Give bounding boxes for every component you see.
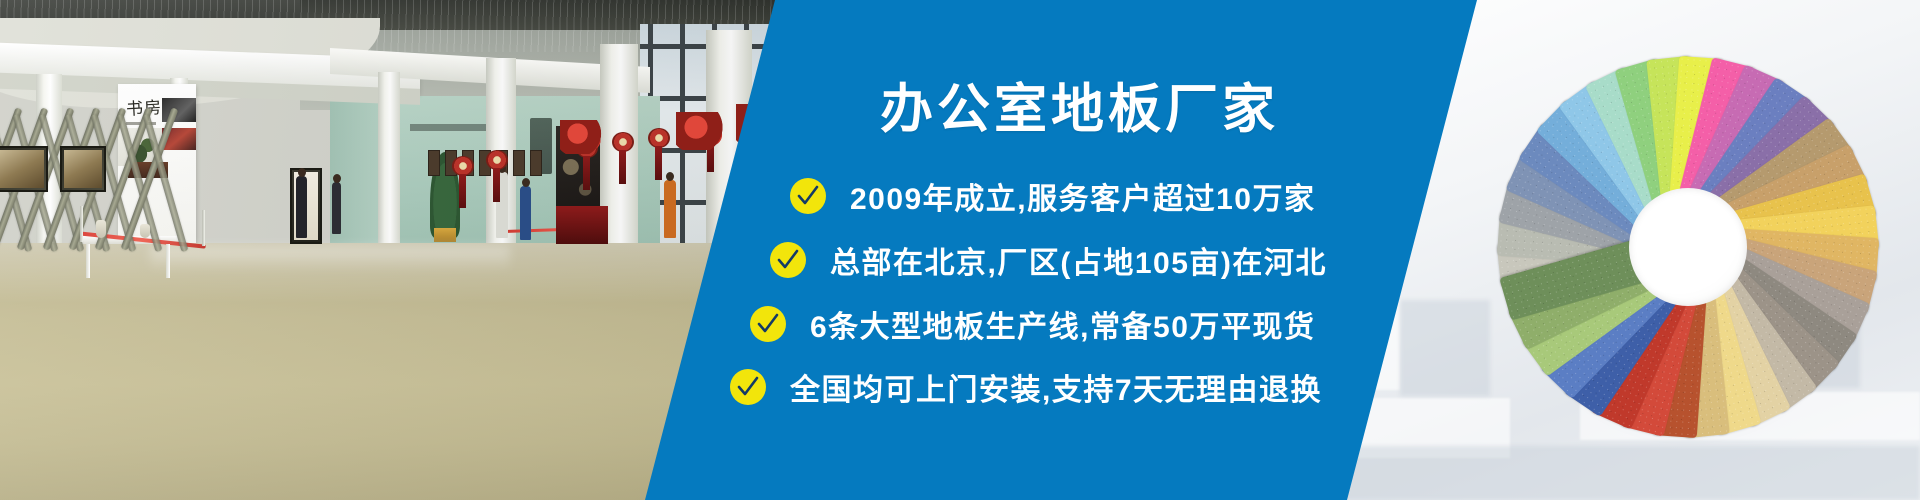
person (296, 176, 307, 238)
wall-artwork-canvas (64, 150, 102, 188)
check-circle-icon (770, 242, 806, 278)
person (520, 186, 531, 240)
page-title: 办公室地板厂家 (880, 78, 1279, 142)
check-circle-icon (730, 369, 766, 405)
feature-item-1: 2009年成立,服务客户超过10万家 (790, 174, 1315, 218)
wall-frame (428, 150, 440, 176)
feature-text: 全国均可上门安装,支持7天无理由退换 (790, 365, 1322, 409)
flower-stand (493, 168, 500, 202)
flower-arrangement (486, 150, 508, 170)
person-head (666, 172, 674, 181)
rope-post (80, 206, 83, 242)
wall-frame (513, 150, 525, 176)
promo-banner: 书房 办公室地板厂家 (0, 0, 1920, 500)
table-leg (86, 244, 90, 278)
vase (140, 224, 150, 238)
person-head (333, 174, 341, 183)
feature-item-2: 总部在北京,厂区(占地105亩)在河北 (770, 238, 1327, 282)
feature-text: 6条大型地板生产线,常备50万平现货 (810, 302, 1315, 346)
flower-arrangement (612, 132, 634, 152)
flooring-color-samples-fan (1478, 32, 1898, 462)
vase (96, 220, 106, 238)
wall-artwork-canvas (0, 150, 44, 188)
feature-text: 总部在北京,厂区(占地105亩)在河北 (830, 238, 1327, 282)
person (664, 180, 676, 238)
flower-stand (583, 156, 590, 190)
check-circle-icon (750, 306, 786, 342)
check-circle-icon (790, 178, 826, 214)
flower-stand (619, 150, 626, 184)
wall-frame (530, 150, 542, 176)
flower-stand (459, 174, 466, 208)
person-head (298, 168, 306, 177)
flower-stand (655, 146, 662, 180)
feature-item-3: 6条大型地板生产线,常备50万平现货 (750, 302, 1315, 346)
feature-text: 2009年成立,服务客户超过10万家 (850, 174, 1315, 218)
person-head (522, 178, 530, 187)
red-flowers (560, 120, 604, 154)
flower-arrangement (648, 128, 670, 148)
table-leg (166, 244, 170, 278)
red-flowers (676, 112, 726, 150)
flower-arrangement (452, 156, 474, 176)
person (332, 182, 341, 234)
rope-post (202, 210, 205, 246)
fan-center-hole (1629, 188, 1747, 306)
display-plinth (556, 206, 608, 244)
feature-item-4: 全国均可上门安装,支持7天无理由退换 (730, 365, 1322, 409)
